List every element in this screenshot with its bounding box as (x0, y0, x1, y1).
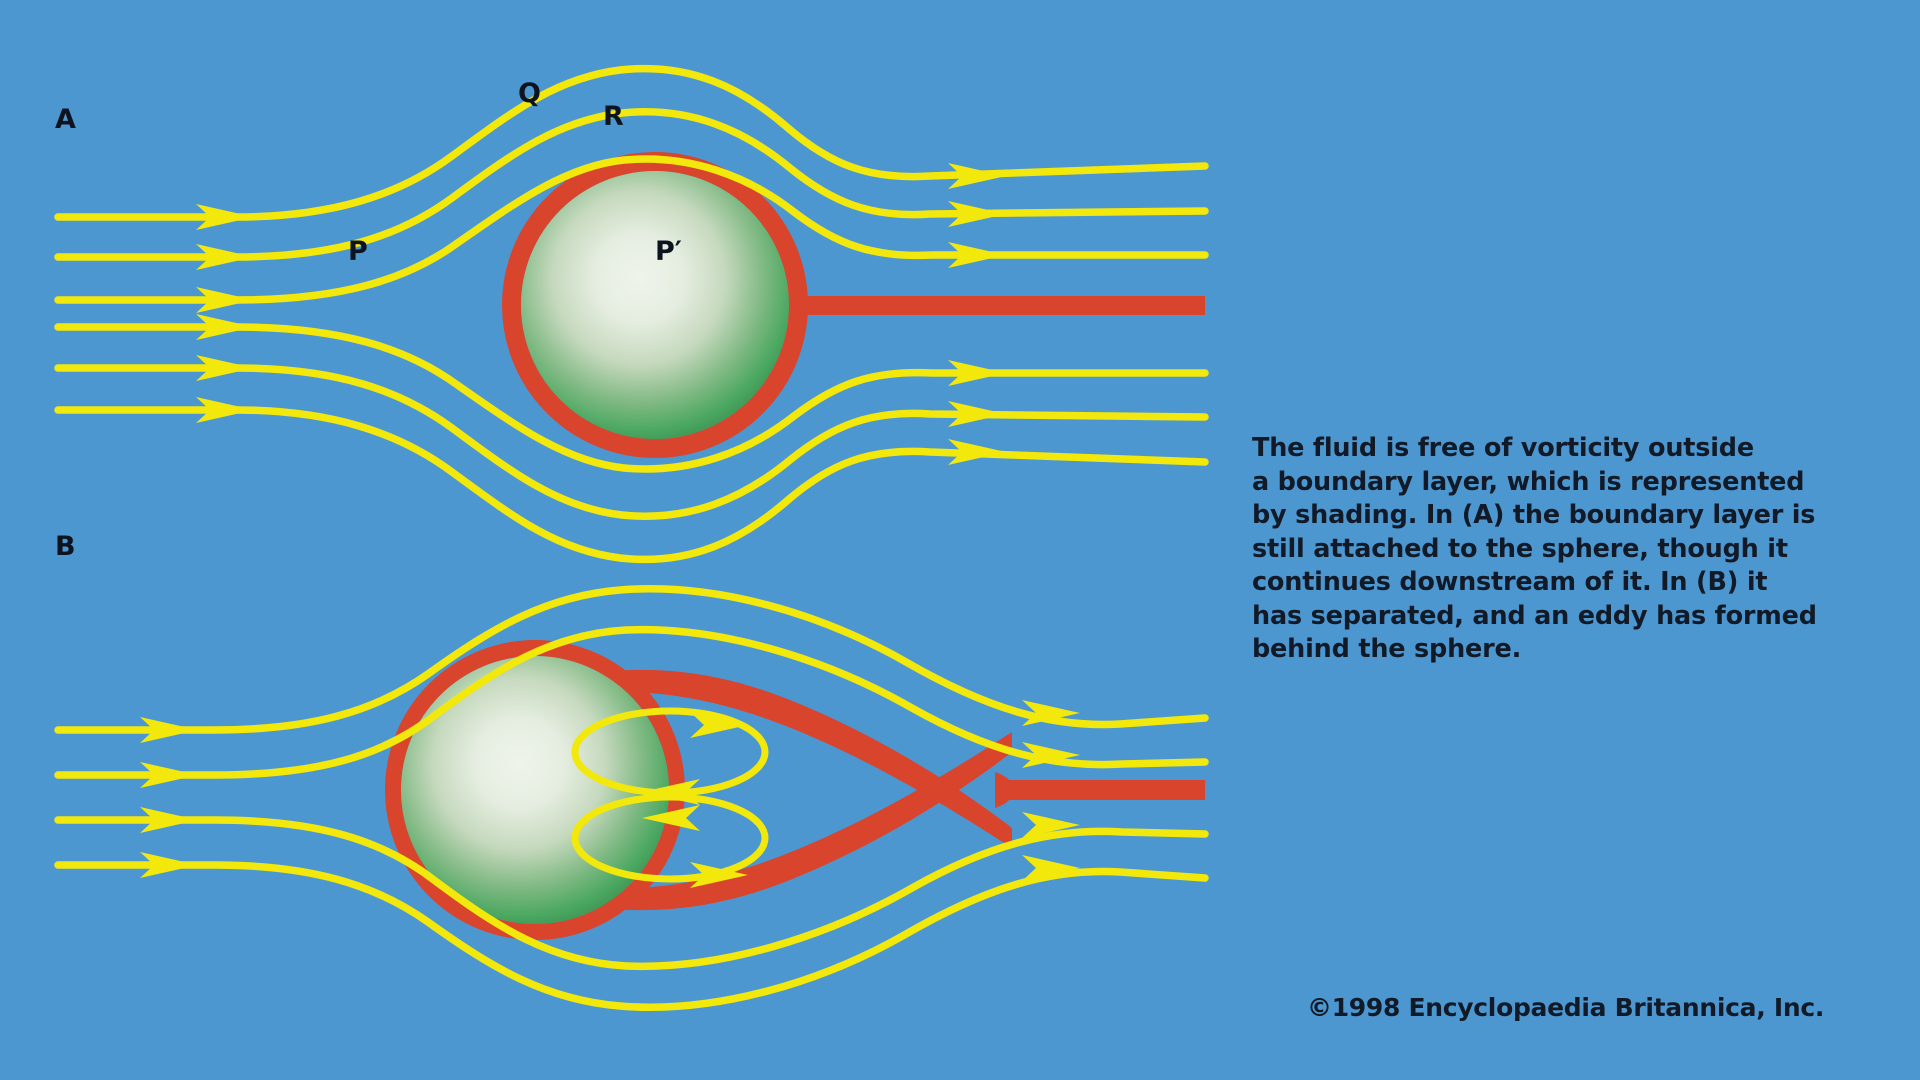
point-label-p-prime: P′ (655, 238, 682, 265)
figure-caption: The fluid is free of vorticity outside a… (1252, 432, 1912, 667)
point-label-q: Q (518, 80, 541, 107)
point-label-p: P (348, 238, 368, 265)
panel-label-b: B (55, 533, 76, 560)
copyright-notice: ©1998 Encyclopaedia Britannica, Inc. (1307, 993, 1824, 1022)
sphere-a (521, 171, 789, 439)
point-label-r: R (603, 103, 624, 130)
panel-label-a: A (55, 106, 76, 133)
figure-page: A B P Q R P′ The fluid is free of vortic… (0, 0, 1920, 1080)
